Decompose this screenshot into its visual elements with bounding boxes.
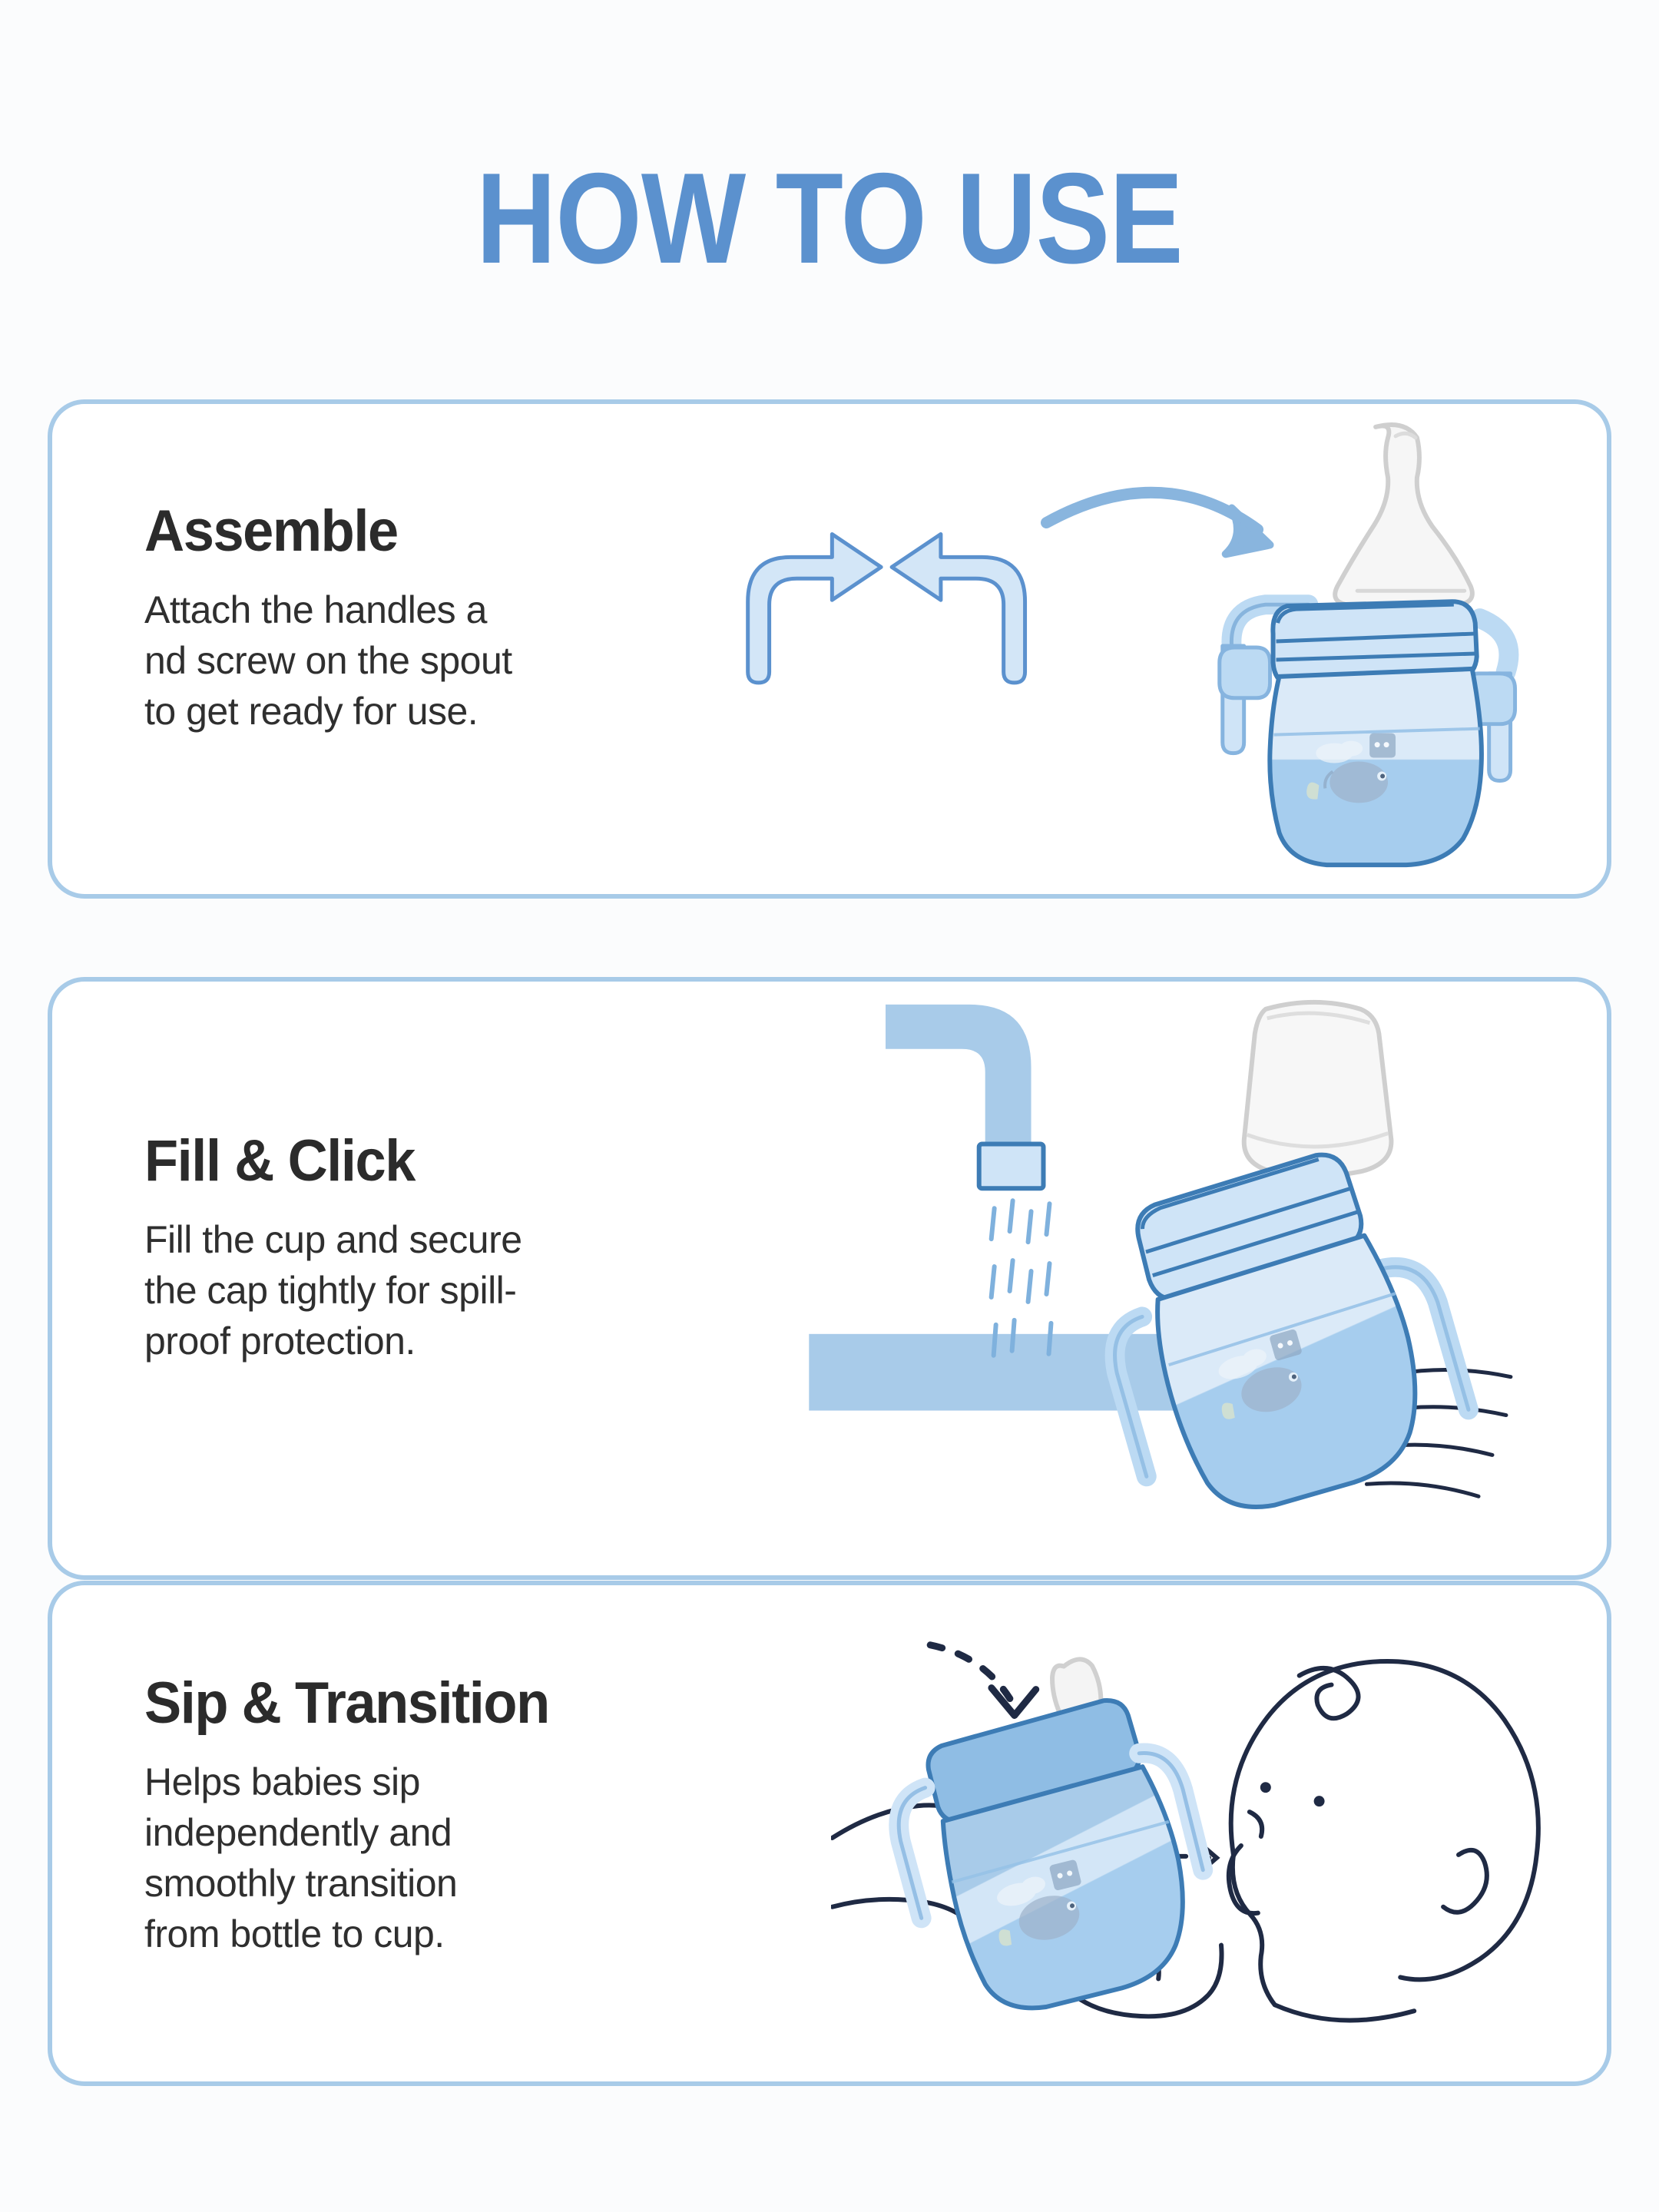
- cup-with-spout: [869, 1642, 1227, 2032]
- sip-and-transition-heading: Sip & Transition: [144, 1670, 549, 1737]
- page-title-wrap: HOW TO USE: [0, 154, 1659, 283]
- assemble-text-block: Assemble Attach the handles a nd screw o…: [144, 498, 512, 737]
- fill-and-click-body-line: proof protection.: [144, 1316, 522, 1366]
- sip-and-transition-text-block: Sip & Transition Helps babies sip indepe…: [144, 1670, 571, 1959]
- water-stream-icon: [992, 1200, 1051, 1355]
- fill-and-click-body-line: Fill the cup and secure: [144, 1214, 522, 1265]
- step-card-sip-and-transition: Sip & Transition Helps babies sip indepe…: [48, 1581, 1611, 2086]
- assemble-body: Attach the handles a nd screw on the spo…: [144, 584, 512, 737]
- assemble-body-line: to get ready for use.: [144, 686, 512, 737]
- arrow-up-left-icon: [892, 534, 1025, 682]
- assemble-illustration: [716, 404, 1607, 894]
- assemble-body-line: Attach the handles a: [144, 584, 512, 635]
- sip-body-line: from bottle to cup.: [144, 1909, 571, 1959]
- faucet-icon: [886, 1005, 1043, 1188]
- dashed-arrow-down-right-icon: [930, 1645, 1036, 1716]
- cup-cap: [1244, 1002, 1392, 1176]
- fill-and-click-heading: Fill & Click: [144, 1128, 503, 1194]
- fill-and-click-illustration: [777, 982, 1607, 1575]
- fill-and-click-body: Fill the cup and secure the cap tightly …: [144, 1214, 522, 1366]
- infographic-page: HOW TO USE Assemble Attach the handles a…: [0, 0, 1659, 2212]
- fill-and-click-body-line: the cap tightly for spill-: [144, 1265, 522, 1316]
- fill-and-click-text-block: Fill & Click Fill the cup and secure the…: [144, 1128, 522, 1366]
- baby-head-line-art: [1229, 1661, 1538, 2020]
- sip-body-line: independently and: [144, 1807, 571, 1858]
- step-card-assemble: Assemble Attach the handles a nd screw o…: [48, 399, 1611, 899]
- sippy-cup-with-handles: [1220, 601, 1515, 865]
- sip-body-line: smoothly transition: [144, 1858, 571, 1909]
- arc-arrow-down-right-icon: [1046, 492, 1270, 554]
- arrow-up-right-icon: [748, 534, 881, 682]
- assemble-heading: Assemble: [144, 498, 494, 565]
- sip-body-line: Helps babies sip: [144, 1757, 571, 1807]
- sippy-spout: [1335, 425, 1472, 604]
- assemble-body-line: nd screw on the spout: [144, 635, 512, 686]
- page-title: HOW TO USE: [476, 154, 1183, 283]
- step-card-fill-and-click: Fill & Click Fill the cup and secure the…: [48, 977, 1611, 1580]
- sip-and-transition-illustration: [831, 1585, 1607, 2081]
- sip-and-transition-body: Helps babies sip independently and smoot…: [144, 1757, 571, 1959]
